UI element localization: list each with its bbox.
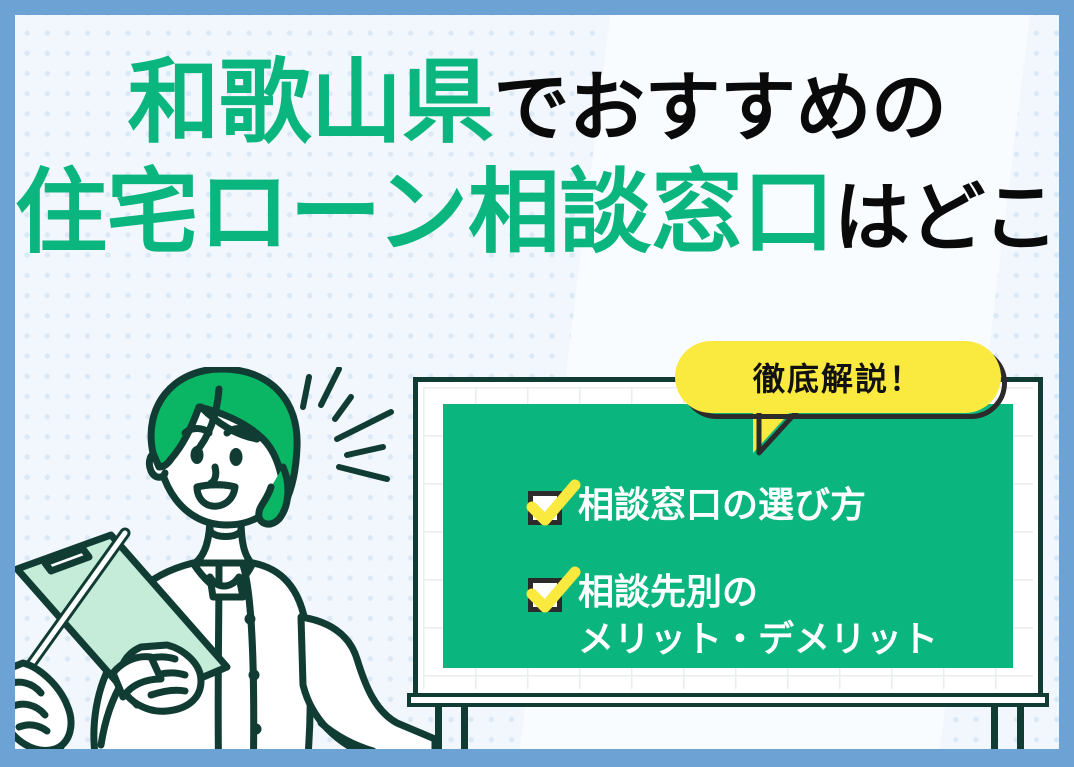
dotted-background-panel: 和歌山県でおすすめの 住宅ローン相談窓口はどこ? 相談窓口の: [15, 15, 1059, 749]
checklist-item-label-line1: 相談先別の: [578, 571, 758, 612]
checklist-item-label-line2: メリット・デメリット: [578, 618, 938, 659]
banner-root: 和歌山県でおすすめの 住宅ローン相談窓口はどこ? 相談窓口の: [0, 0, 1074, 767]
checkbox-checked-icon: [528, 491, 562, 525]
title-line-2: 住宅ローン相談窓口はどこ?: [15, 167, 1059, 261]
chalkboard-leg: [1017, 707, 1024, 749]
list-item: 相談先別の メリット・デメリット: [528, 569, 1048, 663]
title-line-1: 和歌山県でおすすめの: [15, 57, 1059, 151]
title-highlight-service: 住宅ローン相談窓口: [15, 162, 834, 264]
title-highlight-prefecture: 和歌山県: [127, 52, 493, 154]
avatar: [15, 367, 435, 749]
checklist-item-label-multiline: 相談先別の メリット・デメリット: [578, 569, 938, 663]
page-title: 和歌山県でおすすめの 住宅ローン相談窓口はどこ?: [15, 57, 1059, 261]
checklist: 相談窓口の選び方 相談先別の メリット・デメリット: [528, 482, 1048, 702]
checkbox-checked-icon: [528, 578, 562, 612]
title-line-1-rest: でおすすめの: [494, 66, 947, 151]
checklist-item-label: 相談窓口の選び方: [578, 482, 866, 529]
chalkboard-leg: [461, 707, 468, 749]
title-line-2-rest: はどこ?: [834, 176, 1059, 261]
chalkboard-leg: [991, 707, 998, 749]
chalkboard-leg: [435, 707, 442, 749]
speech-bubble: 徹底解説！: [675, 341, 1015, 449]
speech-bubble-label: 徹底解説！: [675, 341, 1001, 413]
list-item: 相談窓口の選び方: [528, 482, 1048, 529]
